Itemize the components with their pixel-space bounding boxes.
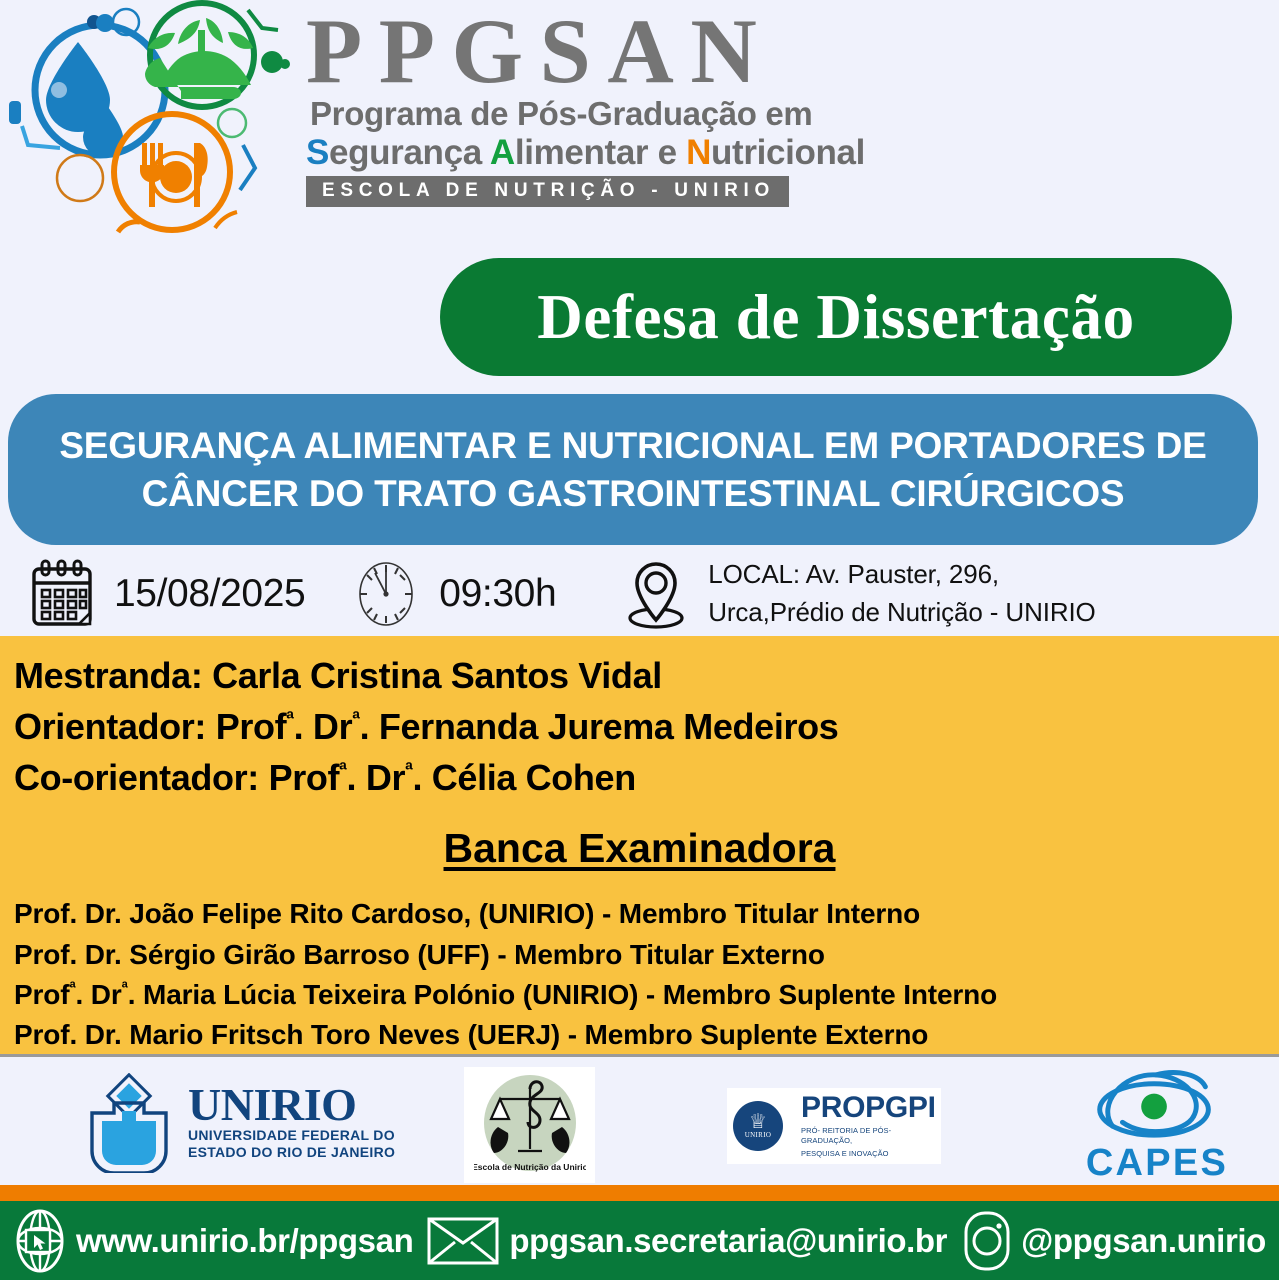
event-type-banner: Defesa de Dissertação	[440, 258, 1232, 376]
ppgsan-logo-mark	[0, 0, 300, 240]
location-line-2: Urca,Prédio de Nutrição - UNIRIO	[708, 594, 1095, 632]
plant-in-hand-icon	[145, 18, 253, 99]
letter-s: S	[306, 133, 329, 172]
website-contact[interactable]: www.unirio.br/ppgsan	[12, 1208, 413, 1274]
text-nutricional: utricional	[711, 133, 865, 172]
ring-orange-icon	[57, 155, 103, 201]
advisor-sup-1: ª	[286, 708, 293, 731]
ppgsan-logo-text: PPGSAN Programa de Pós-Graduação em Segu…	[300, 0, 865, 207]
letter-a: A	[490, 133, 515, 172]
event-type-label: Defesa de Dissertação	[537, 281, 1135, 354]
orange-divider-bar	[0, 1185, 1279, 1201]
propgpi-name: PROPGPI	[801, 1093, 936, 1123]
advisor-mid: . Dr	[294, 706, 353, 747]
coadvisor-prefix: Prof	[269, 757, 340, 798]
instagram-text[interactable]: @ppgsan.unirio	[1021, 1222, 1266, 1260]
propgpi-seal-label: UNIRIO	[745, 1131, 772, 1139]
event-info-row: 15/08/2025	[0, 552, 1279, 636]
advisor-prefix: Prof	[216, 706, 287, 747]
clock-icon	[355, 559, 417, 629]
member-mid: . Dr	[76, 979, 122, 1010]
ppgsan-acronym: PPGSAN	[300, 6, 773, 96]
propgpi-sub-1: PRÓ- REITORIA DE PÓS-GRADUAÇÃO,	[801, 1126, 936, 1146]
poster-root: PPGSAN Programa de Pós-Graduação em Segu…	[0, 0, 1279, 1280]
event-date: 15/08/2025	[114, 572, 305, 616]
contact-footer: www.unirio.br/ppgsan ppgsan.secretaria@u…	[0, 1201, 1279, 1280]
committee-heading: Banca Examinadora	[14, 825, 1265, 872]
connector-blue-icon	[240, 145, 255, 190]
advisor-sup-2: ª	[352, 708, 359, 731]
website-text[interactable]: www.unirio.br/ppgsan	[76, 1222, 413, 1260]
letter-n: N	[686, 133, 711, 172]
plate-cutlery-icon	[140, 143, 208, 207]
ppgsan-logo-graphic	[0, 0, 300, 240]
dot-blue-icon	[96, 14, 114, 32]
student-name: Carla Cristina Santos Vidal	[212, 655, 662, 696]
thesis-title-banner: SEGURANÇA ALIMENTAR E NUTRICIONAL EM POR…	[8, 394, 1258, 545]
coadvisor-name: . Célia Cohen	[412, 757, 635, 798]
text-alimentar: limentar e	[515, 133, 686, 172]
unirio-logo: UNIRIO UNIVERSIDADE FEDERAL DO ESTADO DO…	[80, 1073, 395, 1173]
location-info: LOCAL: Av. Pauster, 296, Urca,Prédio de …	[622, 554, 1095, 634]
escola-caption: Escola de Nutrição da Unirio	[474, 1162, 586, 1172]
coadvisor-sup-1: ª	[339, 759, 346, 782]
committee-list: Prof. Dr. João Felipe Rito Cardoso, (UNI…	[14, 894, 1279, 1055]
unirio-shield-icon	[80, 1073, 180, 1173]
location-pin-icon	[622, 554, 690, 634]
propgpi-logo: ♕ UNIRIO PROPGPI PRÓ- REITORIA DE PÓS-GR…	[727, 1088, 941, 1164]
member-post: . Maria Lúcia Teixeira Polónio (UNIRIO) …	[128, 979, 997, 1010]
escola-nutricao-logo: Escola de Nutrição da Unirio	[464, 1067, 595, 1183]
dot-green-icon	[261, 51, 283, 73]
date-info: 15/08/2025	[26, 557, 305, 631]
capes-eye-icon	[1082, 1065, 1232, 1146]
thesis-title-line-1: SEGURANÇA ALIMENTAR E NUTRICIONAL EM POR…	[59, 422, 1206, 469]
advisor-name: . Fernanda Jurema Medeiros	[360, 706, 839, 747]
instagram-icon	[959, 1208, 1015, 1274]
email-contact[interactable]: ppgsan.secretaria@unirio.br	[425, 1213, 947, 1269]
unirio-wordmark: UNIRIO UNIVERSIDADE FEDERAL DO ESTADO DO…	[188, 1083, 395, 1162]
instagram-contact[interactable]: @ppgsan.unirio	[959, 1208, 1266, 1274]
student-line: Mestranda: Carla Cristina Santos Vidal	[14, 650, 1279, 701]
details-panel: Mestranda: Carla Cristina Santos Vidal O…	[0, 636, 1279, 1057]
coadvisor-mid: . Dr	[347, 757, 406, 798]
location-line-1: LOCAL: Av. Pauster, 296,	[708, 556, 1095, 594]
unirio-sub-2: ESTADO DO RIO DE JANEIRO	[188, 1144, 395, 1162]
coadvisor-role: Co-orientador:	[14, 757, 269, 798]
propgpi-wordmark: PROPGPI PRÓ- REITORIA DE PÓS-GRADUAÇÃO, …	[801, 1093, 936, 1158]
globe-icon	[12, 1208, 68, 1274]
tag-blue-icon	[9, 101, 21, 124]
coadvisor-line: Co-orientador: Profª. Drª. Célia Cohen	[14, 752, 1279, 803]
calendar-icon	[26, 557, 98, 631]
committee-member: Profª. Drª. Maria Lúcia Teixeira Polónio…	[14, 975, 1279, 1015]
event-time: 09:30h	[439, 572, 556, 616]
propgpi-seal-icon: ♕ UNIRIO	[733, 1101, 783, 1151]
header: PPGSAN Programa de Pós-Graduação em Segu…	[0, 0, 1279, 248]
escola-nutricao-seal-icon: Escola de Nutrição da Unirio	[474, 1071, 586, 1179]
committee-member: Prof. Dr. Sérgio Girão Barroso (UFF) - M…	[14, 935, 1279, 975]
text-seguranca: egurança	[329, 133, 490, 172]
thesis-title-line-2: CÂNCER DO TRATO GASTROINTESTINAL CIRÚRGI…	[142, 470, 1125, 517]
envelope-icon	[425, 1213, 501, 1269]
student-role: Mestranda:	[14, 655, 212, 696]
capes-logo: CAPES	[1082, 1065, 1232, 1185]
email-text[interactable]: ppgsan.secretaria@unirio.br	[509, 1222, 947, 1260]
committee-member: Prof. Dr. Mario Fritsch Toro Neves (UERJ…	[14, 1015, 1279, 1055]
unirio-name: UNIRIO	[188, 1083, 356, 1127]
program-line-1: Programa de Pós-Graduação em	[300, 96, 812, 133]
ring-green-icon	[218, 109, 246, 137]
program-line-2: Segurança Alimentar e Nutricional	[300, 133, 865, 172]
capes-pupil-icon	[1141, 1094, 1167, 1120]
propgpi-seal-glyph: ♕	[749, 1113, 767, 1131]
advisor-line: Orientador: Profª. Drª. Fernanda Jurema …	[14, 701, 1279, 752]
unirio-sub-1: UNIVERSIDADE FEDERAL DO	[188, 1127, 395, 1145]
capes-name: CAPES	[1086, 1142, 1228, 1185]
committee-member: Prof. Dr. João Felipe Rito Cardoso, (UNI…	[14, 894, 1279, 934]
advisor-role: Orientador:	[14, 706, 216, 747]
member-prefix: Prof	[14, 979, 69, 1010]
time-info: 09:30h	[355, 559, 556, 629]
propgpi-sub-2: PESQUISA E INOVAÇÃO	[801, 1149, 936, 1159]
sponsor-logo-strip: UNIRIO UNIVERSIDADE FEDERAL DO ESTADO DO…	[0, 1060, 1279, 1185]
school-bar: ESCOLA DE NUTRIÇÃO - UNIRIO	[306, 176, 789, 207]
